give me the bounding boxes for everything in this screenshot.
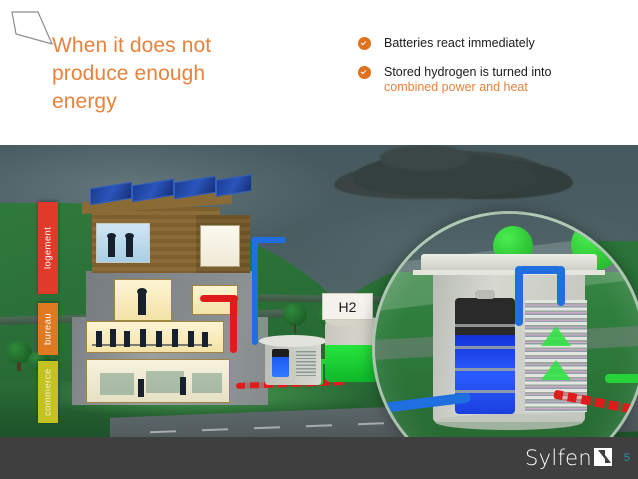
electric-pipe: [252, 237, 258, 345]
check-circle-icon: [358, 66, 371, 79]
page-title-line: energy: [52, 88, 342, 116]
battery-module: [272, 349, 289, 377]
hydrogen-pipe: [605, 374, 638, 383]
road-dash: [254, 426, 280, 429]
electric-pipe: [252, 237, 286, 243]
tag-commerce: commerce: [38, 361, 58, 423]
energy-unit-lid: [259, 335, 327, 347]
person-silhouette: [107, 233, 116, 239]
tree-icon: [283, 303, 307, 333]
electric-pipe: [557, 266, 565, 306]
shop-shelf: [100, 373, 134, 395]
page-title-line: When it does not: [52, 32, 342, 60]
bullet-text: Stored hydrogen is turned into: [384, 65, 626, 80]
person-silhouette: [137, 288, 147, 295]
person-silhouette: [126, 237, 133, 257]
energy-unit-shelf: [413, 270, 605, 275]
person-silhouette: [138, 379, 144, 397]
bullet-item: Stored hydrogen is turned into combined …: [358, 65, 626, 95]
illustration-image: logement bureau commerce H2: [0, 145, 638, 437]
battery-ring: [455, 324, 515, 327]
heat-pipe: [230, 295, 237, 353]
person-silhouette: [138, 293, 146, 315]
brand-name: Sylfen: [525, 446, 592, 470]
h2-sign: H2: [322, 293, 373, 320]
meeting-table: [92, 344, 212, 346]
electric-pipe: [515, 266, 523, 326]
person-silhouette: [108, 237, 115, 257]
person-silhouette: [125, 233, 134, 239]
flow-arrow-icon: [541, 360, 571, 380]
bullet-item: Batteries react immediately: [358, 36, 626, 51]
bullet-text: Batteries react immediately: [384, 36, 626, 51]
sylfen-logo-mark-icon: [594, 448, 612, 466]
energy-unit-base: [435, 414, 583, 430]
magnified-detail-circle: [372, 211, 638, 437]
slide-footer: Sylfen 5: [0, 437, 638, 479]
battery-ring: [455, 346, 515, 349]
window-apartment: [200, 225, 240, 267]
hydrogen-tank: [325, 320, 379, 382]
bullet-list: Batteries react immediately Stored hydro…: [358, 36, 626, 109]
folded-corner-polygon-icon: [8, 8, 56, 46]
shop-shelf: [192, 373, 222, 393]
check-circle-icon: [358, 37, 371, 50]
battery-ring: [455, 368, 515, 371]
road-dash: [306, 424, 332, 427]
slide-header: When it does not produce enough energy B…: [0, 0, 638, 145]
storm-cloud-icon: [380, 145, 470, 171]
tag-bureau: bureau: [38, 303, 58, 355]
page-number: 5: [624, 452, 630, 464]
flow-arrow-icon: [541, 326, 571, 346]
fuel-cell-stack: [296, 349, 316, 377]
person-silhouette: [180, 377, 186, 395]
hydrogen-tank-level: [325, 345, 379, 382]
bullet-subtext: combined power and heat: [384, 80, 626, 95]
road-dash: [202, 428, 228, 431]
road-dash: [358, 422, 384, 425]
page-title-line: produce enough: [52, 60, 342, 88]
tag-logement: logement: [38, 202, 58, 294]
shop-shelf: [146, 371, 184, 393]
window-apartment: [96, 223, 150, 263]
heat-pipe: [200, 295, 238, 302]
road-dash: [150, 430, 176, 433]
battery-terminal: [475, 290, 495, 299]
slide: When it does not produce enough energy B…: [0, 0, 638, 479]
page-title: When it does not produce enough energy: [52, 32, 342, 116]
